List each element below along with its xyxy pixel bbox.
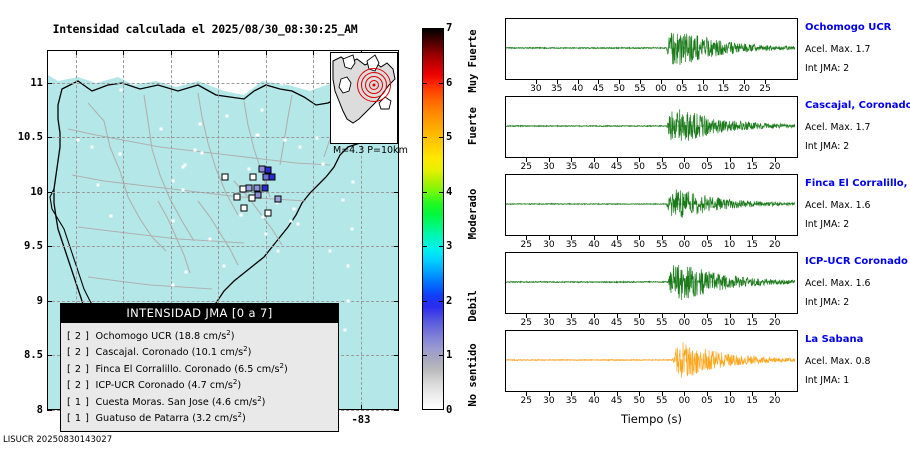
inset-locator-map[interactable]: [330, 52, 398, 144]
colorbar-category-label: No sentido: [467, 343, 479, 406]
legend-row: [ 2 ] Cascajal. Coronado (10.1 cm/s2): [67, 343, 332, 359]
tick: [47, 192, 52, 193]
colorbar-tick-label: 1: [446, 349, 452, 361]
colorbar-ticks: [422, 28, 444, 410]
colorbar-tick: [422, 301, 427, 302]
axis-tick-label: 30: [543, 162, 554, 172]
waveform-peak-acceleration: Acel. Max. 0.8: [805, 356, 870, 367]
axis-tick-label: 00: [679, 162, 690, 172]
axis-tick-label: 25: [521, 318, 532, 328]
tick: [47, 301, 52, 302]
magnitude-depth-annotation: M=4.3 P=10km: [333, 145, 408, 156]
axis-tick-label: 20: [769, 396, 780, 406]
colorbar-tick: [422, 137, 427, 138]
axis-tick-label: 55: [656, 240, 667, 250]
colorbar-tick: [439, 192, 444, 193]
waveform-station-name[interactable]: Ochomogo UCR: [805, 22, 891, 33]
colorbar-category-label: Muy Fuerte: [467, 29, 479, 92]
colorbar-tick-label: 7: [446, 22, 452, 34]
waveform-trace: [506, 19, 795, 77]
tick: [218, 50, 219, 55]
colorbar-tick-label: 6: [446, 77, 452, 89]
tick: [171, 50, 172, 55]
axis-tick-label: 55: [656, 318, 667, 328]
axis-tick-label: 25: [521, 240, 532, 250]
map-y-tick-label: 8: [37, 404, 43, 416]
axis-tick-label: 50: [633, 318, 644, 328]
tick: [361, 405, 362, 410]
colorbar-tick: [439, 301, 444, 302]
axis-tick-label: 30: [543, 396, 554, 406]
tick: [394, 355, 399, 356]
tick: [47, 137, 52, 138]
axis-tick-label: 20: [769, 318, 780, 328]
waveform-station-name[interactable]: La Sabana: [805, 334, 863, 345]
axis-tick-label: 50: [633, 396, 644, 406]
waveform-jma-intensity: Int JMA: 1: [805, 375, 849, 386]
tick: [47, 83, 52, 84]
waveform-panel-group: 303540455055000510152025Ochomogo UCRAcel…: [505, 18, 910, 448]
waveform-plot[interactable]: [505, 96, 798, 158]
waveform-station-name[interactable]: Finca El Corralillo, Coro: [805, 178, 910, 189]
legend-rows: [ 2 ] Ochomogo UCR (18.8 cm/s2)[ 2 ] Cas…: [61, 323, 338, 431]
legend-row: [ 1 ] Guatuso de Patarra (3.2 cm/s2): [67, 409, 332, 425]
axis-tick-label: 25: [521, 162, 532, 172]
axis-tick-label: 45: [611, 162, 622, 172]
axis-tick-label: 35: [566, 318, 577, 328]
map-y-axis-labels: 1110.5109.598.58: [0, 50, 43, 410]
axis-tick-label: 00: [679, 396, 690, 406]
tick: [394, 301, 399, 302]
colorbar-tick: [439, 355, 444, 356]
axis-tick-label: 00: [679, 240, 690, 250]
axis-tick-label: 10: [724, 240, 735, 250]
axis-tick-label: 10: [724, 162, 735, 172]
map-y-tick-label: 8.5: [24, 349, 43, 361]
waveform-time-axis: 253035404550550005101520: [505, 314, 798, 329]
axis-tick-label: 45: [611, 396, 622, 406]
waveform-time-axis: 303540455055000510152025: [505, 80, 798, 95]
axis-tick-label: 50: [633, 162, 644, 172]
colorbar-tick-labels: 76543210: [446, 28, 460, 410]
colorbar-tick: [439, 83, 444, 84]
axis-tick-label: 40: [588, 240, 599, 250]
waveform-jma-intensity: Int JMA: 2: [805, 63, 849, 74]
axis-tick-label: 30: [543, 318, 554, 328]
axis-tick-label: 30: [543, 240, 554, 250]
tick: [394, 246, 399, 247]
map-title: Intensidad calculada el 2025/08/30_08:30…: [0, 22, 410, 36]
axis-tick-label: 55: [634, 84, 645, 94]
tick: [394, 192, 399, 193]
colorbar-tick: [422, 246, 427, 247]
legend-row: [ 2 ] Finca El Corralillo. Coronado (6.5…: [67, 360, 332, 376]
map-y-tick-label: 10.5: [18, 131, 43, 143]
axis-tick-label: 35: [551, 84, 562, 94]
epicenter-dot: [373, 84, 376, 87]
map-y-tick-label: 11: [30, 77, 43, 89]
waveform-trace: [506, 331, 795, 389]
legend-row: [ 2 ] Ochomogo UCR (18.8 cm/s2): [67, 327, 332, 343]
axis-tick-label: 35: [566, 162, 577, 172]
waveform-plot[interactable]: [505, 174, 798, 236]
map-x-tick-label: -83: [351, 414, 370, 426]
axis-tick-label: 10: [724, 318, 735, 328]
axis-tick-label: 40: [588, 162, 599, 172]
waveform-peak-acceleration: Acel. Max. 1.6: [805, 200, 870, 211]
tick: [313, 50, 314, 55]
tick: [47, 410, 52, 411]
axis-tick-label: 15: [746, 318, 757, 328]
map-y-tick-label: 9: [37, 295, 43, 307]
waveform-x-axis-label: Tiempo (s): [505, 412, 798, 426]
waveform-time-axis: 253035404550550005101520: [505, 236, 798, 251]
waveform-trace: [506, 97, 795, 155]
axis-tick-label: 40: [572, 84, 583, 94]
waveform-peak-acceleration: Acel. Max. 1.7: [805, 122, 870, 133]
axis-tick-label: 20: [769, 162, 780, 172]
colorbar-tick-label: 5: [446, 131, 452, 143]
tick: [394, 410, 399, 411]
axis-tick-label: 15: [746, 240, 757, 250]
waveform-plot[interactable]: [505, 18, 798, 80]
axis-tick-label: 20: [769, 240, 780, 250]
waveform-trace: [506, 253, 795, 311]
colorbar-tick-label: 2: [446, 295, 452, 307]
waveform-peak-acceleration: Acel. Max. 1.6: [805, 278, 870, 289]
colorbar-tick-label: 4: [446, 186, 452, 198]
colorbar-tick: [439, 137, 444, 138]
axis-tick-label: 45: [611, 240, 622, 250]
colorbar-category-label: Moderado: [467, 188, 479, 239]
axis-tick-label: 05: [701, 318, 712, 328]
colorbar-tick: [422, 355, 427, 356]
axis-tick-label: 45: [611, 318, 622, 328]
tick: [47, 246, 52, 247]
axis-tick-label: 50: [633, 240, 644, 250]
legend-row: [ 2 ] ICP-UCR Coronado (4.7 cm/s2): [67, 376, 332, 392]
axis-tick-label: 05: [701, 396, 712, 406]
axis-tick-label: 00: [655, 84, 666, 94]
colorbar-category-label: Fuerte: [467, 107, 479, 145]
axis-tick-label: 55: [656, 162, 667, 172]
axis-tick-label: 25: [521, 396, 532, 406]
waveform-jma-intensity: Int JMA: 2: [805, 219, 849, 230]
map-y-tick-label: 9.5: [24, 240, 43, 252]
tick: [266, 50, 267, 55]
waveform-plot[interactable]: [505, 252, 798, 314]
axis-tick-label: 15: [746, 162, 757, 172]
axis-tick-label: 35: [566, 240, 577, 250]
axis-tick-label: 20: [739, 84, 750, 94]
axis-tick-label: 25: [759, 84, 770, 94]
axis-tick-label: 05: [701, 240, 712, 250]
waveform-trace: [506, 175, 795, 233]
legend-title: INTENSIDAD JMA [0 a 7]: [61, 304, 338, 323]
waveform-plot[interactable]: [505, 330, 798, 392]
axis-tick-label: 05: [676, 84, 687, 94]
axis-tick-label: 40: [588, 396, 599, 406]
axis-tick-label: 50: [613, 84, 624, 94]
axis-tick-label: 40: [588, 318, 599, 328]
colorbar-category-label: Debil: [467, 291, 479, 323]
colorbar-tick-label: 3: [446, 240, 452, 252]
tick: [76, 50, 77, 55]
tick: [123, 50, 124, 55]
waveform-jma-intensity: Int JMA: 2: [805, 141, 849, 152]
footer-id: LISUCR 20250830143027: [3, 435, 112, 445]
waveform-time-axis: 253035404550550005101520: [505, 158, 798, 173]
waveform-peak-acceleration: Acel. Max. 1.7: [805, 44, 870, 55]
waveform-station-name[interactable]: Cascajal, Coronado: [805, 100, 910, 111]
axis-tick-label: 45: [593, 84, 604, 94]
axis-tick-label: 15: [718, 84, 729, 94]
colorbar-tick: [422, 192, 427, 193]
axis-tick-label: 15: [746, 396, 757, 406]
axis-tick-label: 55: [656, 396, 667, 406]
axis-tick-label: 30: [530, 84, 541, 94]
waveform-time-axis: 253035404550550005101520: [505, 392, 798, 407]
colorbar-category-labels: Muy FuerteFuerteModeradoDebilNo sentido: [462, 28, 484, 410]
legend-row: [ 1 ] Cuesta Moras. San Jose (4.6 cm/s2): [67, 393, 332, 409]
map-y-tick-label: 10: [30, 186, 43, 198]
waveform-jma-intensity: Int JMA: 2: [805, 297, 849, 308]
colorbar-tick-label: 0: [446, 404, 452, 416]
axis-tick-label: 10: [697, 84, 708, 94]
tick: [47, 355, 52, 356]
axis-tick-label: 05: [701, 162, 712, 172]
colorbar-tick: [439, 246, 444, 247]
intensity-legend: INTENSIDAD JMA [0 a 7] [ 2 ] Ochomogo UC…: [60, 303, 339, 432]
colorbar-tick: [422, 83, 427, 84]
axis-tick-label: 10: [724, 396, 735, 406]
waveform-station-name[interactable]: ICP-UCR Coronado: [805, 256, 908, 267]
axis-tick-label: 35: [566, 396, 577, 406]
axis-tick-label: 00: [679, 318, 690, 328]
